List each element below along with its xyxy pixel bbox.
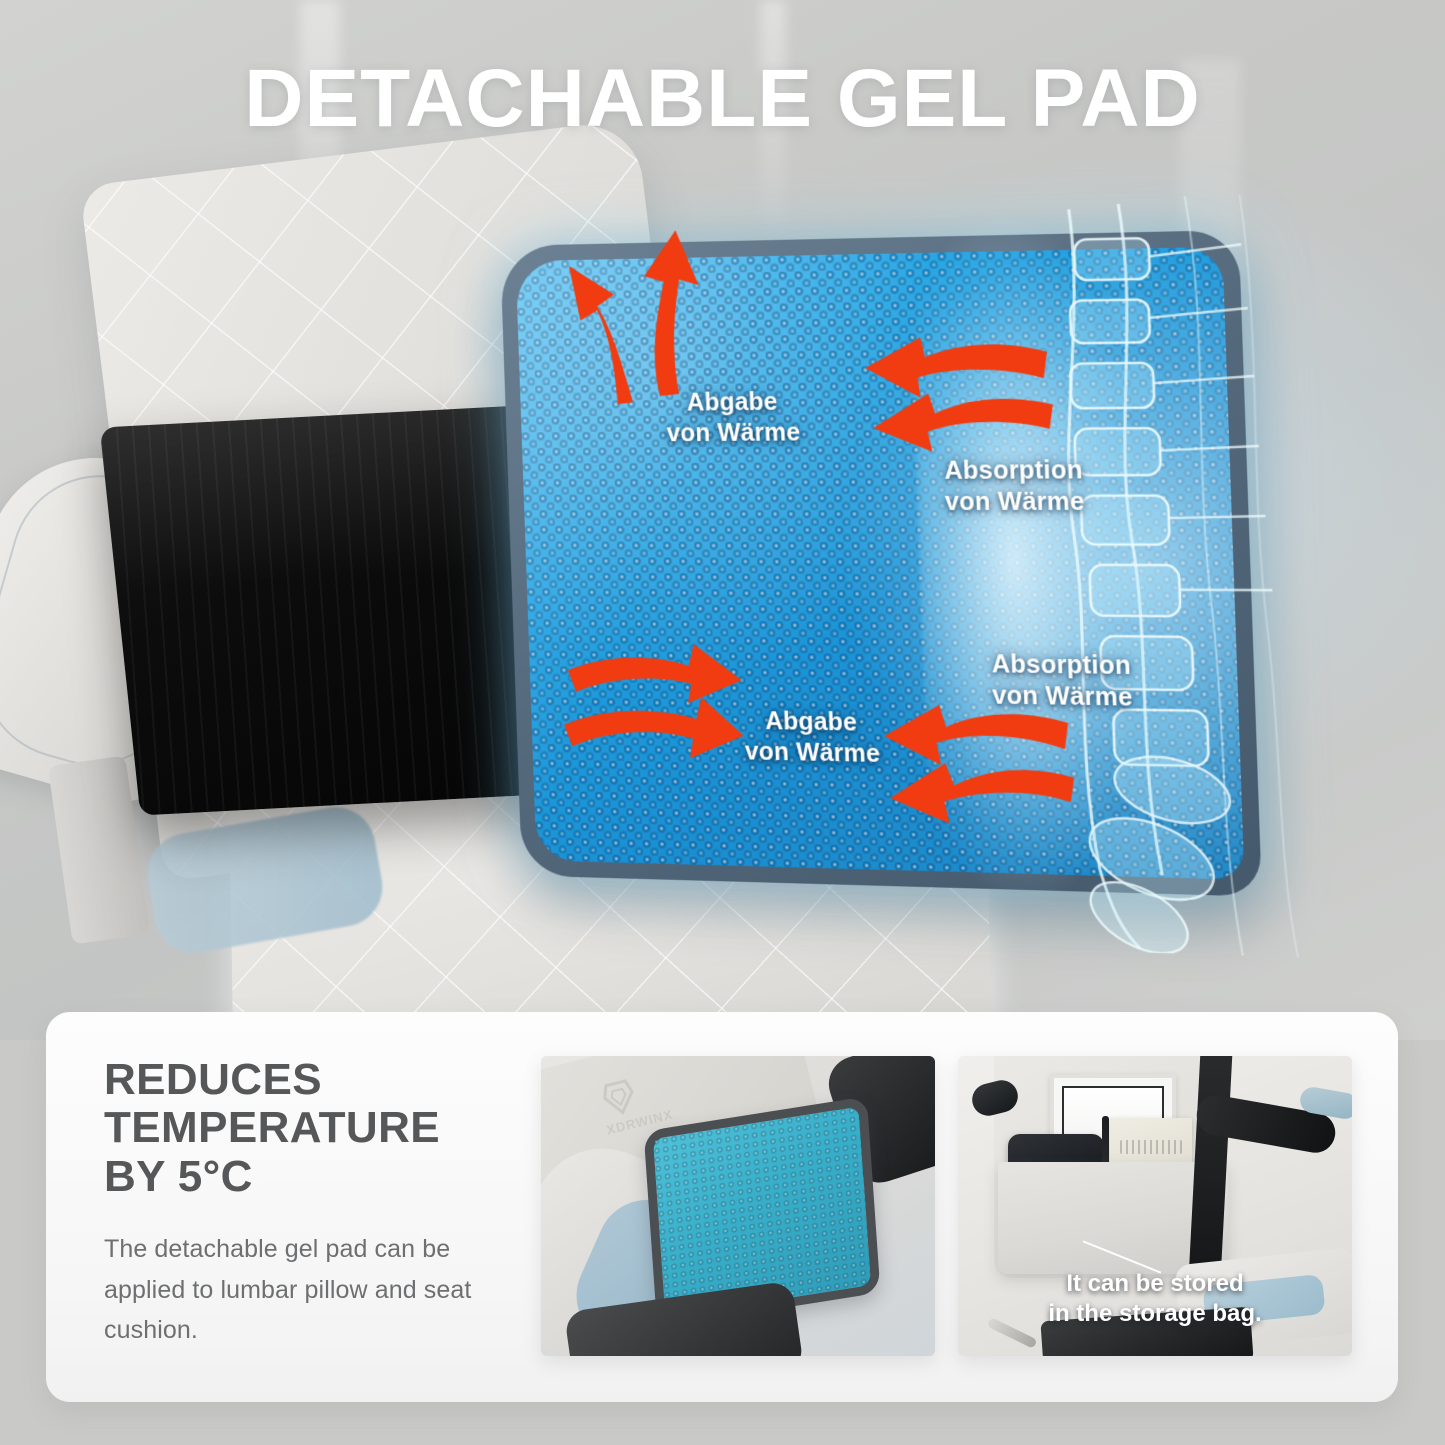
arrow-heat-absorb-top	[862, 329, 1059, 452]
gel-label-release-bottom: Abgabe von Wärme	[698, 705, 928, 770]
gel-pad-hero: Abgabe von Wärme Absorption von Wärme Ab…	[500, 230, 1262, 897]
page-title: DETACHABLE GEL PAD	[0, 52, 1445, 146]
arrow-heat-release-up	[566, 228, 707, 402]
pillow-highlight	[100, 405, 557, 591]
feature-card: REDUCES TEMPERATURE BY 5°C The detachabl…	[46, 1012, 1398, 1402]
feature-headline: REDUCES TEMPERATURE BY 5°C	[104, 1056, 524, 1201]
photo-caption: It can be stored in the storage bag.	[958, 1269, 1352, 1330]
photo-gel-pad-on-seat: XDRWINX	[541, 1056, 935, 1356]
photo-storage-bag: It can be stored in the storage bag.	[958, 1056, 1352, 1356]
copy-block: REDUCES TEMPERATURE BY 5°C The detachabl…	[104, 1056, 524, 1351]
feature-body-text: The detachable gel pad can be applied to…	[104, 1229, 524, 1351]
hero-scene: Abgabe von Wärme Absorption von Wärme Ab…	[0, 0, 1445, 1040]
gel-label-release-top: Abgabe von Wärme	[625, 386, 842, 448]
gel-label-absorb-top: Absorption von Wärme	[886, 455, 1143, 517]
notebook-script-text	[1120, 1140, 1182, 1154]
gel-label-absorb-bottom: Absorption von Wärme	[933, 649, 1192, 714]
